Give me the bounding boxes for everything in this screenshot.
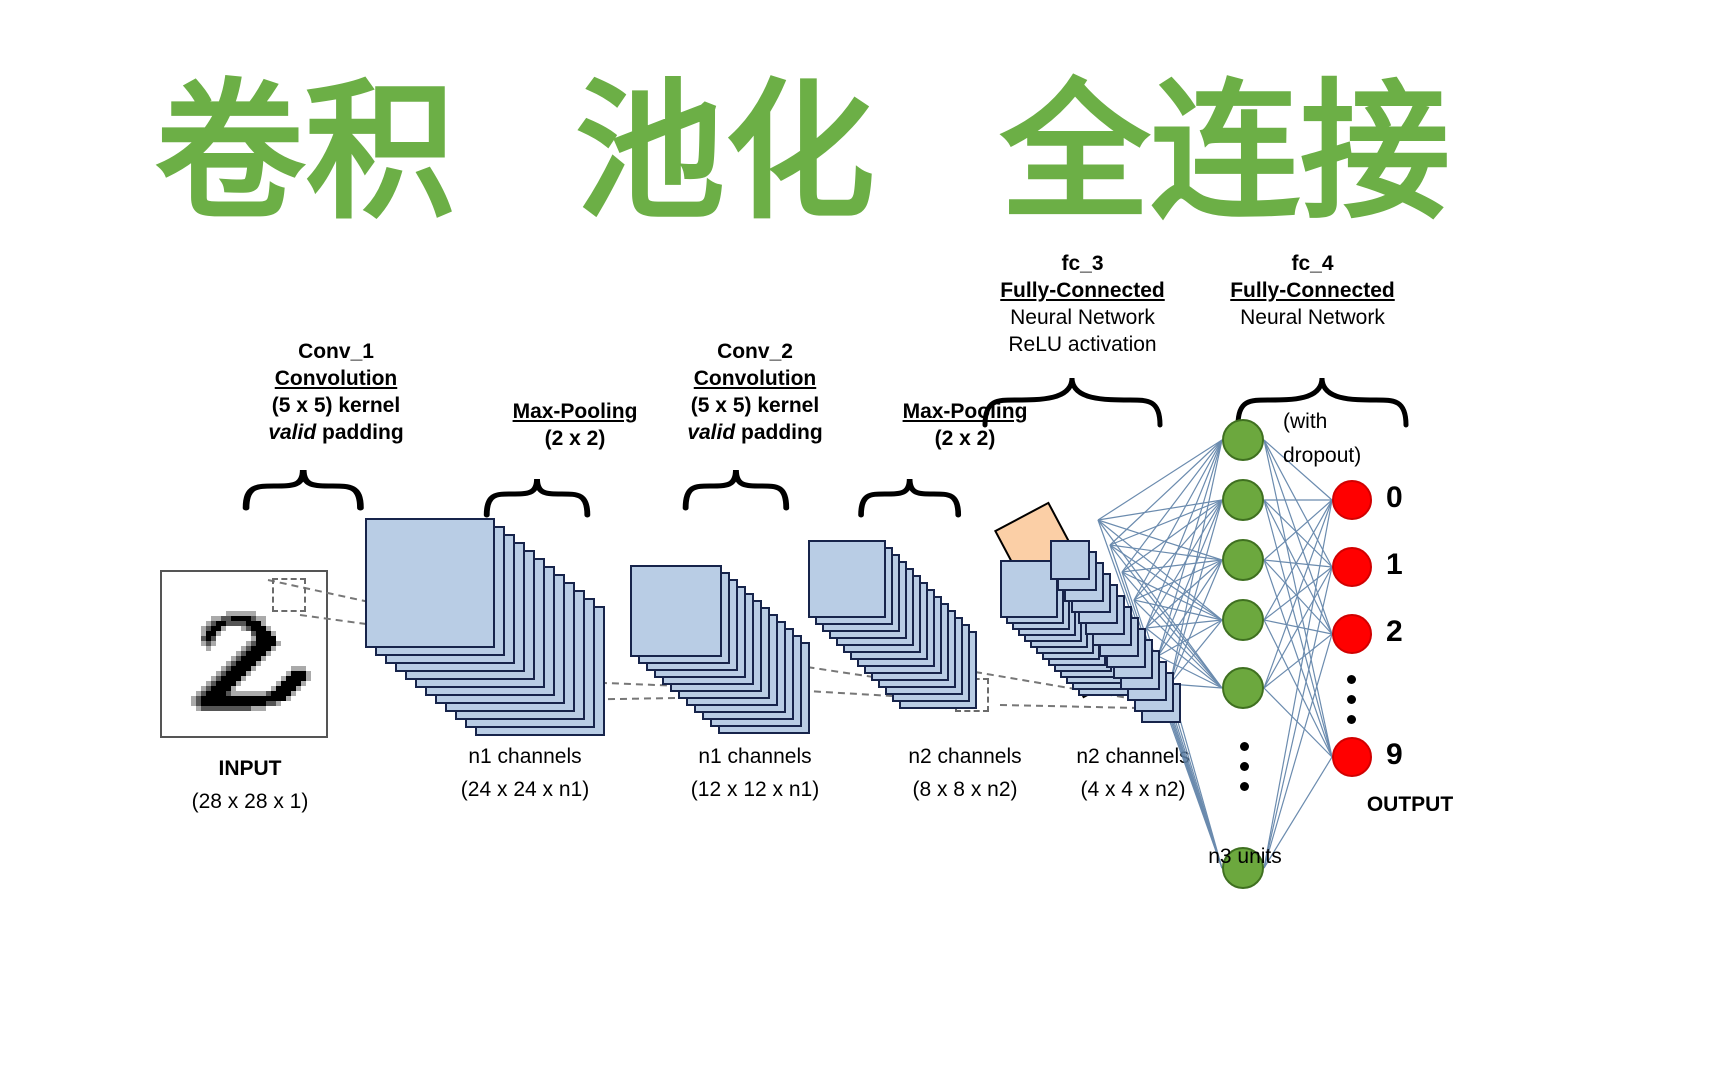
dropout-note-line1: (with [1283, 405, 1403, 439]
dropout-note: (with dropout) [1283, 405, 1403, 473]
feature-map-card [365, 518, 495, 648]
output-neuron [1332, 547, 1372, 587]
flatten-link [1170, 440, 1222, 684]
dense-link [1264, 560, 1332, 634]
output-digit-2: 2 [1386, 617, 1403, 647]
hidden-neuron [1222, 419, 1264, 461]
feature-map-card [630, 565, 722, 657]
hidden-neuron [1222, 667, 1264, 709]
hidden-neuron [1222, 599, 1264, 641]
flatten-link [1170, 560, 1222, 684]
hidden-layer-label: n3 units [1145, 840, 1345, 873]
dropout-note-line2: dropout) [1283, 439, 1403, 473]
dense-link [1264, 500, 1332, 620]
flatten-link [1146, 500, 1222, 628]
links-hidden-to-output [1264, 440, 1332, 868]
output-neuron [1332, 737, 1372, 777]
output-layer-label: OUTPUT [1330, 788, 1490, 821]
output-digit-0: 0 [1386, 483, 1403, 513]
flatten-link [1146, 440, 1222, 628]
feature-map-card [808, 540, 886, 618]
output-digit-9: 9 [1386, 740, 1403, 770]
dense-link [1264, 440, 1332, 757]
hidden-neuron [1222, 539, 1264, 581]
dense-link [1264, 688, 1332, 757]
dense-link [1264, 620, 1332, 757]
output-neuron [1332, 614, 1372, 654]
flatten-link [1134, 440, 1222, 600]
flatten-link [1110, 500, 1222, 545]
output-digit-1: 1 [1386, 550, 1403, 580]
feature-map-card [1050, 540, 1090, 580]
hidden-neuron [1222, 479, 1264, 521]
dense-link [1264, 500, 1332, 560]
hidden-layer-ellipsis [1240, 742, 1249, 802]
output-layer-ellipsis [1347, 675, 1356, 735]
output-neuron [1332, 480, 1372, 520]
